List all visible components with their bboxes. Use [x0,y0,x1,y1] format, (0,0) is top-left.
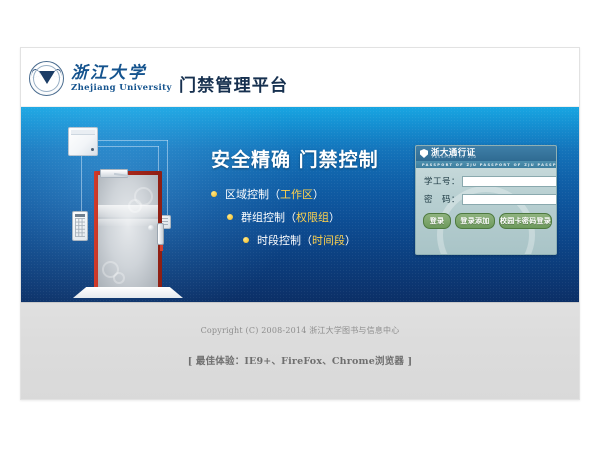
door-knob-icon [148,225,154,231]
feature-highlight: 工作区 [280,186,313,202]
footer-copyright: Copyright (C) 2008-2014 浙江大学图书与信息中心 [21,303,579,336]
zju-seal-icon [29,61,64,96]
login-button[interactable]: 登录 [423,213,451,229]
keypad-keys-icon [75,218,85,237]
feature-item-area: 区域控制（工作区） [211,186,426,202]
shield-icon [420,149,428,158]
password-input[interactable] [462,194,557,205]
site-header: 浙江大学 Zhejiang University 门禁管理平台 [21,48,579,107]
bullet-icon [243,237,249,243]
feature-text: 群组控制（ [241,209,296,225]
site-footer: Copyright (C) 2008-2014 浙江大学图书与信息中心 [ 最佳… [21,302,579,400]
login-panel-title-en: PASSPORT OF ZJU [432,156,477,159]
userid-input[interactable] [462,176,557,187]
controller-led-icon [91,148,94,151]
feature-suffix: ） [313,186,324,202]
feature-suffix: ） [345,232,356,248]
door-strike-icon [160,245,163,251]
floor-plate [73,287,183,298]
wire-top-icon [96,140,168,142]
door-access-control-illustration [51,125,201,295]
controller-box-icon [68,127,98,156]
wire-left-icon [81,154,83,212]
login-panel-titlebar: 浙大通行证 PASSPORT OF ZJU [416,146,556,161]
page-card: 浙江大学 Zhejiang University 门禁管理平台 [20,47,580,400]
passport-strip: PASSPORT OF ZJU PASSPORT OF ZJU PASSPORT… [416,161,556,168]
passport-strip-text: PASSPORT OF ZJU PASSPORT OF ZJU PASSPORT… [416,163,556,167]
login-button-group: 登录 登录添加 校园卡密码登录 [416,211,556,229]
feature-list: 区域控制（工作区） 群组控制（权限组） 时段控制（时间段） [211,186,426,248]
feature-item-timeslot: 时段控制（时间段） [243,232,426,248]
password-label: 密 码： [424,193,462,205]
footer-browser-note: [ 最佳体验：IE9+、FireFox、Chrome浏览器 ] [21,336,579,367]
feature-item-group: 群组控制（权限组） [227,209,426,225]
door-leaf [98,175,158,288]
userid-label: 学工号： [424,175,462,187]
feature-text: 区域控制（ [225,186,280,202]
banner-copy: 安全精确 门禁控制 区域控制（工作区） 群组控制（权限组） 时段控制（时间段） [211,145,426,255]
logo-name-en: Zhejiang University [71,84,172,93]
form-row-userid: 学工号： [424,175,548,187]
bullet-icon [227,214,233,220]
login-panel: 浙大通行证 PASSPORT OF ZJU PASSPORT OF ZJU PA… [415,145,557,255]
university-logo[interactable]: 浙江大学 Zhejiang University [29,61,172,96]
wire-top-2-icon [96,146,159,148]
form-row-password: 密 码： [424,193,548,205]
logo-name-cn: 浙江大学 [71,65,172,82]
page-title: 门禁管理平台 [179,71,288,96]
login-form: 学工号： 密 码： [416,168,556,205]
feature-highlight: 时间段 [312,232,345,248]
feature-highlight: 权限组 [296,209,329,225]
bullet-icon [211,191,217,197]
seal-wing-left-icon [30,68,41,78]
keypad-icon [72,211,88,241]
wire-right-icon [167,140,169,216]
login-add-button[interactable]: 登录添加 [455,213,495,229]
feature-text: 时段控制（ [257,232,312,248]
gear-icon [113,272,125,284]
door-handle-icon [157,223,164,245]
logo-text: 浙江大学 Zhejiang University [71,65,172,92]
feature-suffix: ） [329,209,340,225]
banner-headline: 安全精确 门禁控制 [211,145,426,172]
card-password-login-button[interactable]: 校园卡密码登录 [499,213,552,229]
seal-wing-right-icon [52,68,63,78]
gear-icon [128,199,142,213]
door-frame [94,171,162,291]
hero-banner: 安全精确 门禁控制 区域控制（工作区） 群组控制（权限组） 时段控制（时间段） [21,107,579,302]
